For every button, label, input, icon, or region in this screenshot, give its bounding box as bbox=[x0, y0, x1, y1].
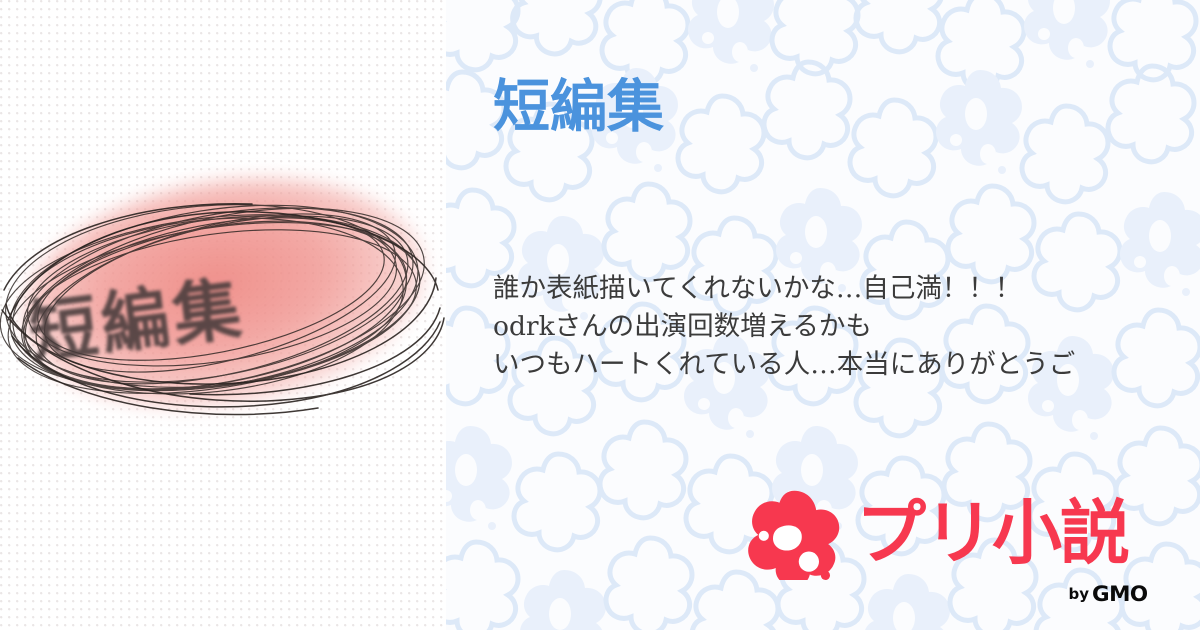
svg-text:プリ小説: プリ小説 bbox=[856, 495, 1129, 573]
gmo-wordmark: GMO bbox=[1092, 582, 1168, 604]
brand-logo: プリ小説 by GMO bbox=[744, 488, 1174, 604]
thought-bubble-icon bbox=[744, 488, 848, 580]
cover-artwork-panel: 短編集 bbox=[0, 0, 446, 630]
story-description: 誰か表紙描いてくれないかな…自己満！！！ odrkさんの出演回数増えるかも いつ… bbox=[493, 270, 1165, 384]
brand-byline: by GMO bbox=[1068, 582, 1168, 604]
brand-wordmark: プリ小説 bbox=[856, 495, 1174, 573]
share-card: 短編集 bbox=[0, 0, 1200, 630]
page-title: 短編集 bbox=[493, 78, 664, 138]
byline-prefix: by bbox=[1068, 587, 1089, 604]
story-info-panel: 短編集 誰か表紙描いてくれないかな…自己満！！！ odrkさんの出演回数増えるか… bbox=[446, 0, 1200, 630]
svg-text:GMO: GMO bbox=[1092, 582, 1148, 604]
